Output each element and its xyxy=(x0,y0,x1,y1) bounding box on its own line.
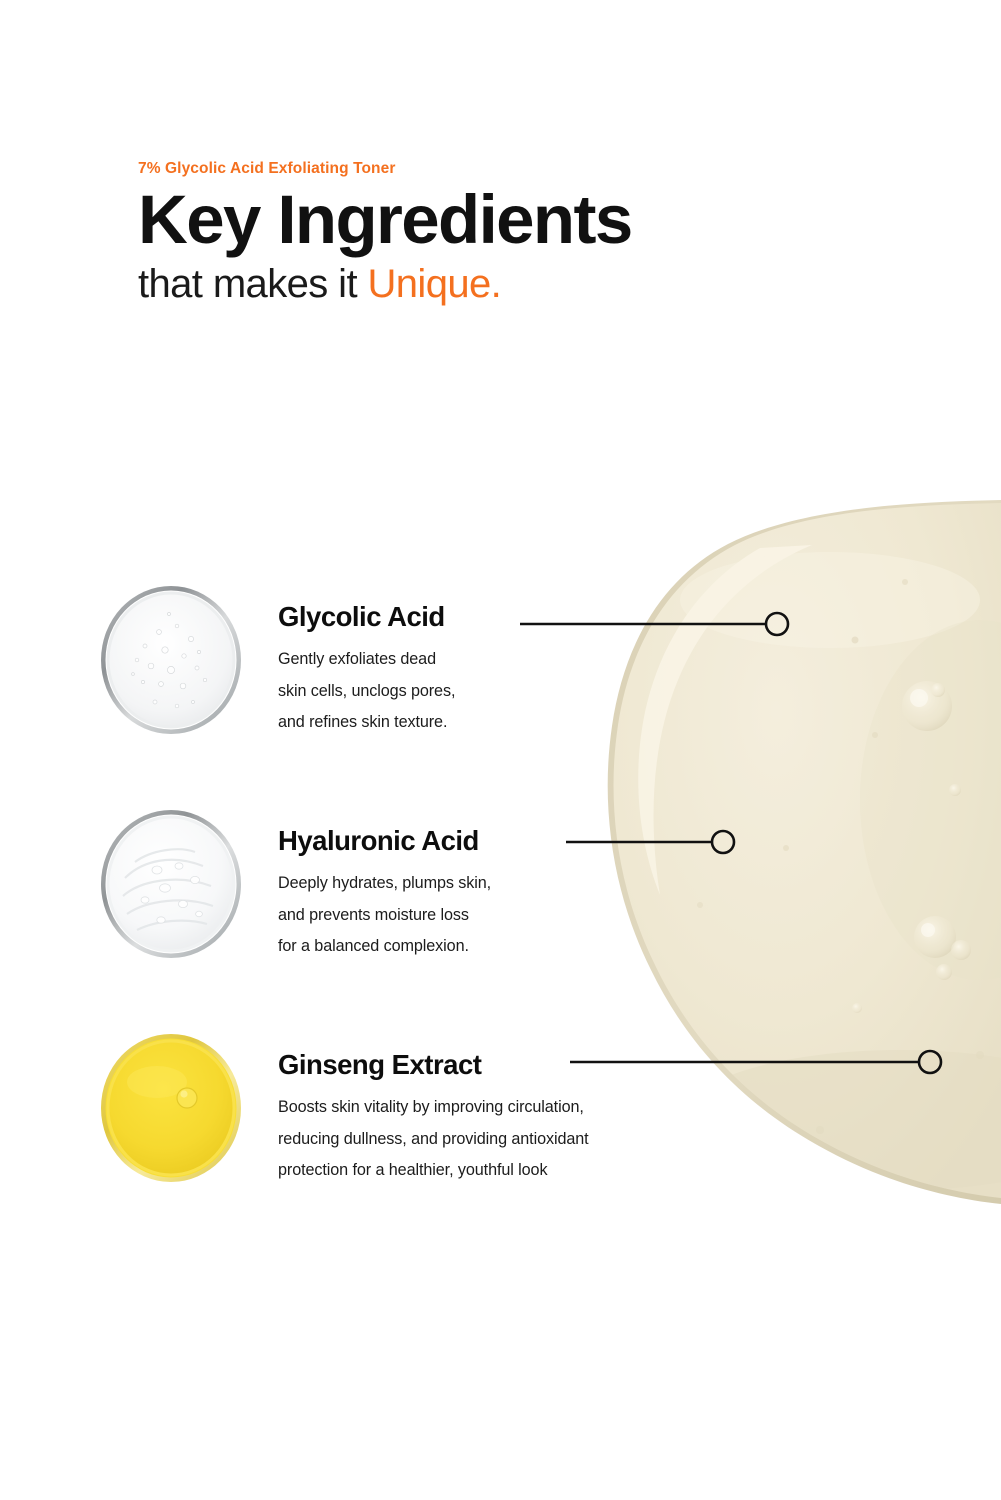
bubble xyxy=(177,1088,197,1108)
ingredient-name: Hyaluronic Acid xyxy=(278,826,708,856)
page-title: Key Ingredients xyxy=(138,185,898,255)
subtitle-accent: Unique. xyxy=(367,262,501,306)
ingredient-description: Gently exfoliates dead skin cells, unclo… xyxy=(278,644,708,739)
product-eyebrow: 7% Glycolic Acid Exfoliating Toner xyxy=(138,160,898,179)
leader-endpoint-ginseng-extract xyxy=(919,1051,941,1073)
ingredient-text-ginseng-extract: Ginseng Extract Boosts skin vitality by … xyxy=(278,1032,708,1187)
ingredient-text-hyaluronic-acid: Hyaluronic Acid Deeply hydrates, plumps … xyxy=(278,808,708,963)
leader-endpoint-hyaluronic-acid xyxy=(712,831,734,853)
ingredient-text-glycolic-acid: Glycolic Acid Gently exfoliates dead ski… xyxy=(278,584,708,739)
leader-endpoint-glycolic-acid xyxy=(766,613,788,635)
clear-gel-dish xyxy=(99,584,243,736)
ingredient-name: Glycolic Acid xyxy=(278,602,708,632)
white-cream-dish xyxy=(99,808,243,960)
ingredient-name: Ginseng Extract xyxy=(278,1050,708,1080)
subtitle-lead: that makes it xyxy=(138,262,367,306)
ingredient-description: Deeply hydrates, plumps skin, and preven… xyxy=(278,868,708,963)
page-subtitle: that makes it Unique. xyxy=(138,261,898,307)
header: 7% Glycolic Acid Exfoliating Toner Key I… xyxy=(138,160,898,307)
ingredient-description: Boosts skin vitality by improving circul… xyxy=(278,1092,708,1187)
infographic-page: 7% Glycolic Acid Exfoliating Toner Key I… xyxy=(0,0,1001,1500)
yellow-extract-dish xyxy=(99,1032,243,1184)
